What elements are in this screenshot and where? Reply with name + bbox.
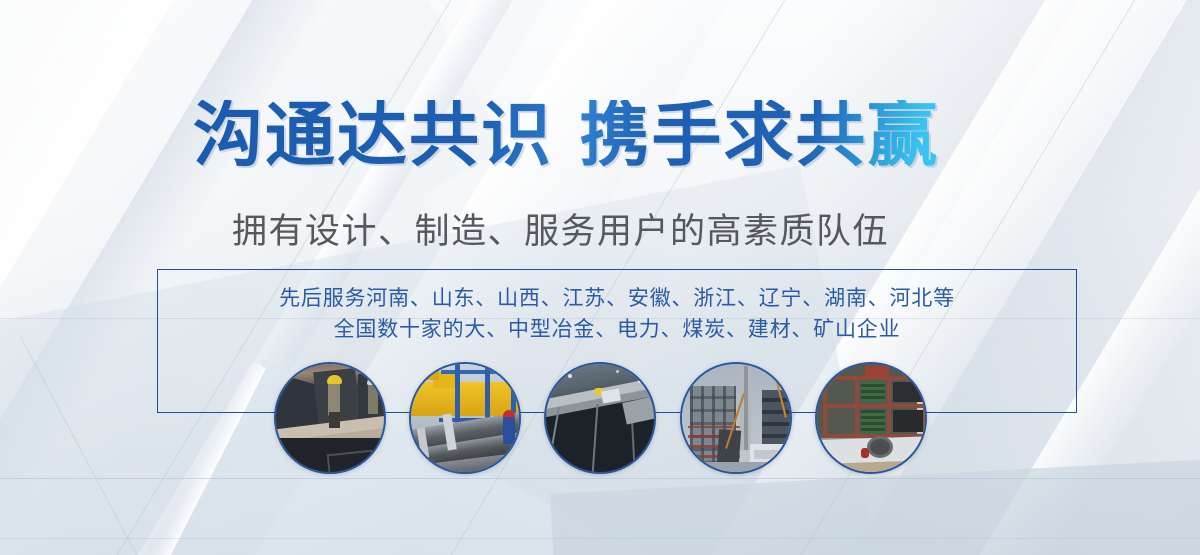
photo-content (682, 364, 790, 472)
industrial-plant-construction-photo[interactable] (680, 362, 792, 474)
photo-content (546, 364, 654, 472)
photo-circle-row (0, 0, 1200, 555)
photo-content (276, 364, 384, 472)
yellow-equipment-pipeline-photo[interactable] (409, 362, 521, 474)
steel-plate-installation-photo[interactable] (274, 362, 386, 474)
photo-content (411, 364, 519, 472)
promotional-banner: 沟通达共识 携手求共赢 沟通达共识 携手求共赢 拥有设计、制造、服务用户的高素质… (0, 0, 1200, 555)
photo-content (817, 364, 925, 472)
dark-steel-structure-photo[interactable] (544, 362, 656, 474)
workshop-interior-photo[interactable] (815, 362, 927, 474)
